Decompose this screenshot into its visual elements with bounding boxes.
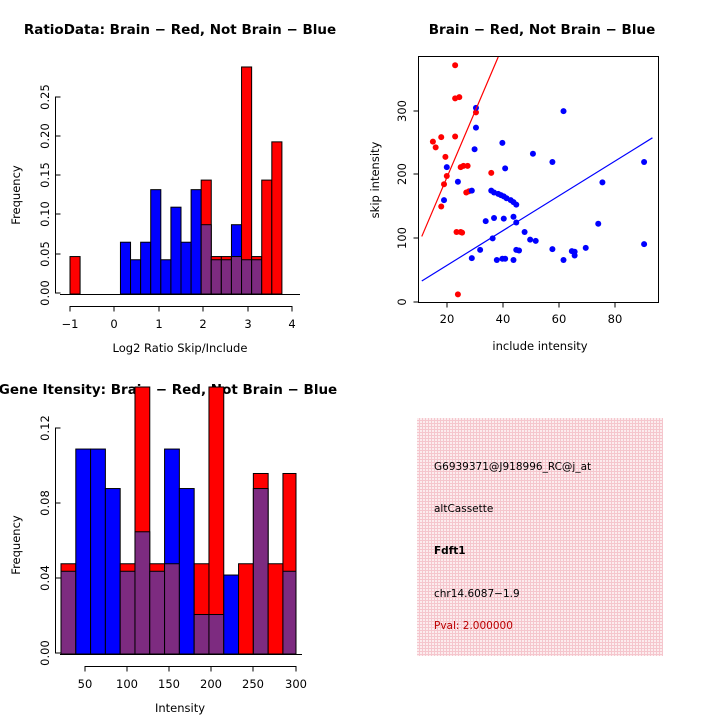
gene-xtick-100: 100 <box>116 677 138 691</box>
scatter-point <box>510 214 516 220</box>
scatter-point <box>483 218 489 224</box>
gene-intensity-title: Gene Itensity: Brain − Red, Not Brain − … <box>0 382 337 398</box>
scatter-point <box>452 62 458 68</box>
scatter-point <box>438 204 444 210</box>
scatter-point <box>530 151 536 157</box>
hist-bar-overlap <box>242 260 252 294</box>
scatter-point <box>441 197 447 203</box>
intensity-scatter-title: Brain − Red, Not Brain − Blue <box>429 22 655 38</box>
hist-bar-overlap <box>211 260 221 294</box>
scatter-x-axis: 20 40 60 80 include intensity <box>440 303 623 354</box>
hist-bar <box>161 260 171 294</box>
gene-xtick-300: 300 <box>285 677 307 691</box>
scatter-point <box>469 255 475 261</box>
scatter-point <box>549 246 555 252</box>
ratio-histogram-y-axis: 0.00 0.05 0.10 0.15 0.20 0.25 Frequency <box>9 84 61 306</box>
panel-ratio-histogram: RatioData: Brain − Red, Not Brain − Blue… <box>0 0 360 360</box>
ratio-ytick-0.15: 0.15 <box>38 162 52 188</box>
scatter-xtick-60: 60 <box>552 312 567 326</box>
ratio-ytick-0.20: 0.20 <box>38 123 52 149</box>
hist-bar-overlap <box>252 260 262 294</box>
hist-bar-overlap <box>231 257 241 294</box>
gene-xtick-150: 150 <box>158 677 180 691</box>
scatter-point <box>444 164 450 170</box>
ratio-xtick-1: 1 <box>155 317 162 331</box>
scatter-point <box>499 140 505 146</box>
ratio-xtick-0: 0 <box>110 317 117 331</box>
annotation-pval: Pval: 2.000000 <box>434 620 513 632</box>
scatter-point <box>469 188 475 194</box>
ratio-xtick-3: 3 <box>244 317 251 331</box>
annotation-locus: chr14.6087−1.9 <box>434 588 520 600</box>
scatter-point <box>472 146 478 152</box>
panel-gene-intensity-histogram: Gene Itensity: Brain − Red, Not Brain − … <box>0 360 360 720</box>
scatter-point <box>641 159 647 165</box>
gene-xtick-50: 50 <box>78 677 93 691</box>
hist-bar-overlap <box>283 571 296 654</box>
scatter-point <box>561 108 567 114</box>
hist-bar-overlap <box>150 571 165 654</box>
hist-bar <box>151 190 161 294</box>
scatter-point <box>527 237 533 243</box>
hist-bar-overlap <box>209 615 224 654</box>
gene-intensity-bars <box>61 387 296 654</box>
scatter-ytick-100: 100 <box>395 227 409 249</box>
hist-bar <box>262 180 272 294</box>
regression-line <box>422 138 653 281</box>
gene-intensity-ylabel: Frequency <box>9 515 23 575</box>
hist-bar <box>76 449 91 654</box>
scatter-point <box>465 163 471 169</box>
hist-bar <box>209 387 224 654</box>
scatter-point <box>599 179 605 185</box>
annotation-box: G6939371@J918996_RC@j_at altCassette Fdf… <box>417 418 663 656</box>
hist-bar <box>191 190 201 294</box>
panel-intensity-scatter: Brain − Red, Not Brain − Blue 0 100 200 … <box>360 0 720 360</box>
ratio-ytick-0.10: 0.10 <box>38 201 52 227</box>
gene-xtick-200: 200 <box>200 677 222 691</box>
scatter-point <box>452 134 458 140</box>
hist-bar <box>171 207 181 294</box>
scatter-point <box>549 159 555 165</box>
r-multi-panel-figure: RatioData: Brain − Red, Not Brain − Blue… <box>0 0 720 720</box>
hist-bar-overlap <box>165 564 180 654</box>
scatter-xtick-80: 80 <box>608 312 623 326</box>
hist-bar <box>239 564 254 654</box>
hist-bar <box>224 575 239 654</box>
hist-bar-overlap <box>221 260 231 294</box>
hist-bar <box>268 564 283 654</box>
scatter-plot-frame <box>419 57 659 303</box>
hist-bar <box>179 489 194 654</box>
scatter-xtick-20: 20 <box>440 312 455 326</box>
hist-bar-overlap <box>253 489 268 654</box>
scatter-ytick-0: 0 <box>395 298 409 305</box>
ratio-ytick-0.25: 0.25 <box>38 84 52 110</box>
panel-annotation: G6939371@J918996_RC@j_at altCassette Fdf… <box>360 360 720 720</box>
hist-bar <box>120 242 130 294</box>
scatter-ytick-200: 200 <box>395 163 409 185</box>
scatter-point <box>430 139 436 145</box>
hist-bar-overlap <box>194 615 209 654</box>
hist-bar-overlap <box>201 225 211 294</box>
gene-ytick-0.12: 0.12 <box>38 415 52 441</box>
gene-ytick-0.00: 0.00 <box>38 640 52 666</box>
gene-intensity-x-axis: 50 100 150 200 250 300 Intensity <box>60 655 307 716</box>
scatter-point <box>502 165 508 171</box>
scatter-point <box>533 238 539 244</box>
ratio-ytick-0.05: 0.05 <box>38 241 52 267</box>
scatter-point <box>442 154 448 160</box>
ratio-histogram-ylabel: Frequency <box>9 165 23 225</box>
scatter-point <box>516 247 522 253</box>
gene-intensity-y-axis: 0.00 0.04 0.08 0.12 Frequency <box>9 415 61 666</box>
intensity-scatter-ylabel: skip intensity <box>368 141 382 218</box>
scatter-point <box>561 257 567 263</box>
ratio-xtick-2: 2 <box>199 317 206 331</box>
gene-ytick-0.04: 0.04 <box>38 565 52 591</box>
scatter-point <box>494 257 500 263</box>
hist-bar-overlap <box>135 532 150 654</box>
scatter-point <box>458 164 464 170</box>
scatter-points <box>430 62 647 297</box>
hist-bar <box>91 449 106 654</box>
scatter-point <box>438 134 444 140</box>
ratio-histogram-x-axis: −1 0 1 2 3 4 Log2 Ratio Skip/Include <box>60 295 300 356</box>
gene-intensity-svg: Gene Itensity: Brain − Red, Not Brain − … <box>0 360 360 720</box>
annotation-gene-symbol: Fdft1 <box>434 545 466 557</box>
scatter-point <box>455 179 461 185</box>
hist-bar <box>141 242 151 294</box>
gene-xtick-250: 250 <box>242 677 264 691</box>
gene-ytick-0.08: 0.08 <box>38 490 52 516</box>
intensity-scatter-xlabel: include intensity <box>492 339 587 353</box>
scatter-point <box>488 170 494 176</box>
scatter-point <box>455 291 461 297</box>
scatter-ytick-300: 300 <box>395 100 409 122</box>
scatter-point <box>510 257 516 263</box>
hist-bar-overlap <box>61 571 76 654</box>
scatter-point <box>595 221 601 227</box>
scatter-point <box>502 256 508 262</box>
hist-bar <box>272 142 282 294</box>
intensity-scatter-svg: Brain − Red, Not Brain − Blue 0 100 200 … <box>360 0 720 360</box>
scatter-point <box>522 229 528 235</box>
ratio-histogram-bars <box>70 67 282 294</box>
ratio-ytick-0.00: 0.00 <box>38 280 52 306</box>
scatter-point <box>641 241 647 247</box>
ratio-histogram-svg: RatioData: Brain − Red, Not Brain − Blue… <box>0 0 360 360</box>
hist-bar <box>131 260 141 294</box>
scatter-point <box>473 125 479 131</box>
annotation-probe-id: G6939371@J918996_RC@j_at <box>434 461 591 473</box>
hist-bar <box>70 257 80 294</box>
ratio-xtick--1: −1 <box>62 317 79 331</box>
gene-intensity-xlabel: Intensity <box>155 701 205 715</box>
scatter-point <box>433 144 439 150</box>
scatter-point <box>513 202 519 208</box>
scatter-point <box>456 94 462 100</box>
scatter-y-axis: 0 100 200 300 skip intensity <box>368 100 419 306</box>
scatter-xtick-40: 40 <box>496 312 511 326</box>
scatter-point <box>477 247 483 253</box>
scatter-point <box>491 215 497 221</box>
scatter-point <box>501 216 507 222</box>
scatter-point <box>459 230 465 236</box>
ratio-histogram-title: RatioData: Brain − Red, Not Brain − Blue <box>24 22 336 38</box>
hist-bar <box>105 489 120 654</box>
scatter-point <box>572 253 578 259</box>
annotation-event-type: altCassette <box>434 503 493 515</box>
scatter-point <box>583 245 589 251</box>
scatter-fit-lines <box>422 57 653 281</box>
ratio-histogram-xlabel: Log2 Ratio Skip/Include <box>113 341 248 355</box>
hist-bar <box>181 242 191 294</box>
ratio-xtick-4: 4 <box>288 317 295 331</box>
hist-bar-overlap <box>120 571 135 654</box>
